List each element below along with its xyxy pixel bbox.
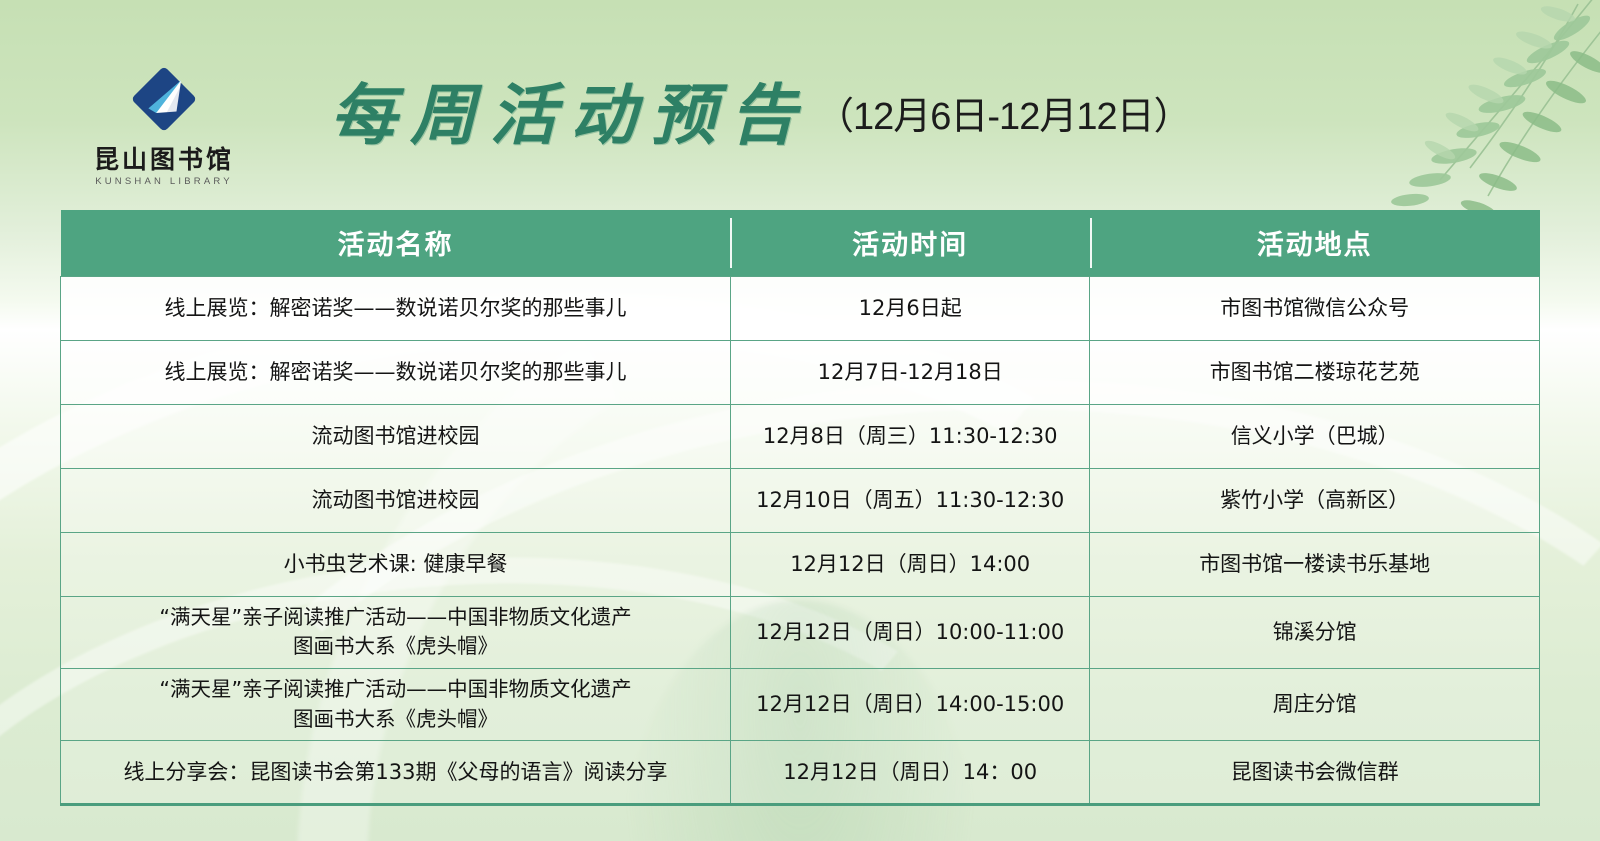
table-row: 线上展览：解密诺奖——数说诺贝尔奖的那些事儿12月7日-12月18日市图书馆二楼…	[61, 340, 1540, 404]
table-row: “满天星”亲子阅读推广活动——中国非物质文化遗产 图画书大系《虎头帽》12月12…	[61, 596, 1540, 668]
column-header-place: 活动地点	[1090, 210, 1540, 276]
table-row: 线上展览：解密诺奖——数说诺贝尔奖的那些事儿12月6日起市图书馆微信公众号	[61, 276, 1540, 340]
cell-activity-time: 12月12日（周日）14：00	[730, 741, 1089, 805]
cell-activity-place: 周庄分馆	[1090, 668, 1540, 740]
cell-activity-place: 紫竹小学（高新区）	[1090, 468, 1540, 532]
cell-activity-place: 市图书馆二楼琼花艺苑	[1090, 340, 1540, 404]
cell-activity-time: 12月12日（周日）14:00	[730, 532, 1089, 596]
cell-activity-time: 12月12日（周日）10:00-11:00	[730, 596, 1089, 668]
kunshan-library-diamond-icon	[125, 60, 203, 138]
cell-activity-name: 流动图书馆进校园	[61, 468, 731, 532]
cell-activity-place: 锦溪分馆	[1090, 596, 1540, 668]
schedule-table: 活动名称 活动时间 活动地点 线上展览：解密诺奖——数说诺贝尔奖的那些事儿12月…	[60, 210, 1540, 806]
cell-activity-name: 小书虫艺术课: 健康早餐	[61, 532, 731, 596]
cell-activity-name: 线上分享会：昆图读书会第133期《父母的语言》阅读分享	[61, 741, 731, 805]
cell-activity-name: “满天星”亲子阅读推广活动——中国非物质文化遗产 图画书大系《虎头帽》	[61, 596, 731, 668]
cell-activity-name: 线上展览：解密诺奖——数说诺贝尔奖的那些事儿	[61, 340, 731, 404]
title-row: 每周活动预告 （12月6日-12月12日）	[330, 82, 1191, 148]
cell-activity-name: 线上展览：解密诺奖——数说诺贝尔奖的那些事儿	[61, 276, 731, 340]
date-range: （12月6日-12月12日）	[816, 85, 1191, 140]
schedule-table-wrap: 活动名称 活动时间 活动地点 线上展览：解密诺奖——数说诺贝尔奖的那些事儿12月…	[60, 210, 1540, 806]
cell-activity-place: 昆图读书会微信群	[1090, 741, 1540, 805]
cell-activity-name: “满天星”亲子阅读推广活动——中国非物质文化遗产 图画书大系《虎头帽》	[61, 668, 731, 740]
column-header-time: 活动时间	[730, 210, 1089, 276]
table-body: 线上展览：解密诺奖——数说诺贝尔奖的那些事儿12月6日起市图书馆微信公众号线上展…	[61, 276, 1540, 805]
logo-name-cn: 昆山图书馆	[88, 147, 240, 173]
cell-activity-time: 12月12日（周日）14:00-15:00	[730, 668, 1089, 740]
cell-activity-name: 流动图书馆进校园	[61, 404, 731, 468]
willow-branch-icon	[1320, 0, 1600, 230]
table-row: “满天星”亲子阅读推广活动——中国非物质文化遗产 图画书大系《虎头帽》12月12…	[61, 668, 1540, 740]
cell-activity-place: 市图书馆一楼读书乐基地	[1090, 532, 1540, 596]
table-row: 流动图书馆进校园12月8日（周三）11:30-12:30信义小学（巴城）	[61, 404, 1540, 468]
poster-canvas: 昆山图书馆 KUNSHAN LIBRARY 每周活动预告 （12月6日-12月1…	[0, 0, 1600, 841]
page-title: 每周活动预告	[330, 82, 810, 148]
table-header: 活动名称 活动时间 活动地点	[61, 210, 1540, 276]
table-row: 小书虫艺术课: 健康早餐12月12日（周日）14:00市图书馆一楼读书乐基地	[61, 532, 1540, 596]
table-header-row: 活动名称 活动时间 活动地点	[61, 210, 1540, 276]
table-row: 线上分享会：昆图读书会第133期《父母的语言》阅读分享12月12日（周日）14：…	[61, 741, 1540, 805]
cell-activity-time: 12月8日（周三）11:30-12:30	[730, 404, 1089, 468]
cell-activity-time: 12月10日（周五）11:30-12:30	[730, 468, 1089, 532]
logo-name-en: KUNSHAN LIBRARY	[88, 176, 240, 187]
table-row: 流动图书馆进校园12月10日（周五）11:30-12:30紫竹小学（高新区）	[61, 468, 1540, 532]
cell-activity-place: 市图书馆微信公众号	[1090, 276, 1540, 340]
column-header-name: 活动名称	[61, 210, 731, 276]
library-logo: 昆山图书馆 KUNSHAN LIBRARY	[88, 60, 240, 187]
cell-activity-time: 12月7日-12月18日	[730, 340, 1089, 404]
cell-activity-place: 信义小学（巴城）	[1090, 404, 1540, 468]
cell-activity-time: 12月6日起	[730, 276, 1089, 340]
